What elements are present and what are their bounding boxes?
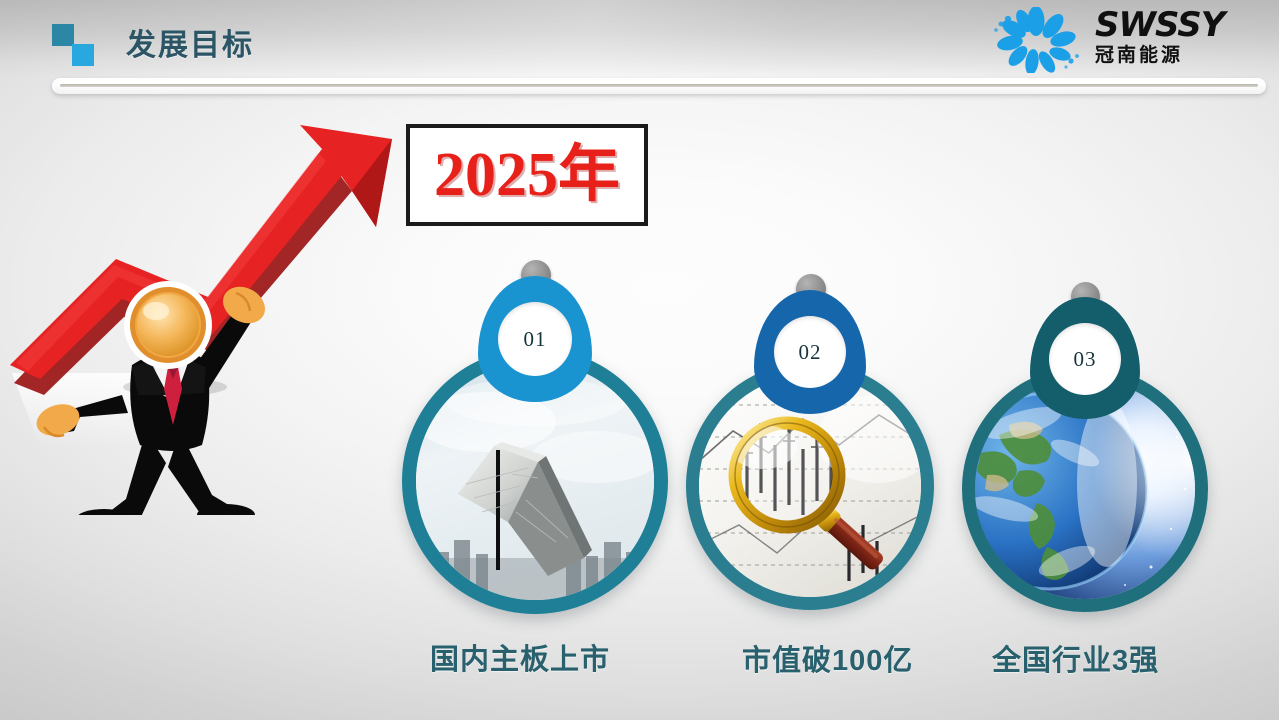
- goal-number-1: 01: [524, 327, 547, 352]
- goal-bubble-3[interactable]: 03: [962, 366, 1208, 612]
- goal-caption-2: 市值破100亿: [742, 637, 913, 679]
- year-text: 2025年: [434, 144, 620, 206]
- square-icon-dark: [52, 24, 74, 46]
- businessman-on-rising-arrow-icon: [0, 95, 420, 515]
- goal-badge-3[interactable]: 03: [1024, 282, 1146, 428]
- company-logo-icon: [983, 7, 1089, 73]
- brand-wordmark: SWSSY 冠南能源: [1095, 7, 1263, 68]
- goal-badge-1[interactable]: 01: [472, 260, 598, 410]
- goal-number-3: 03: [1074, 347, 1097, 372]
- page-title: 发展目标: [126, 20, 254, 64]
- title-decoration-squares: [52, 24, 108, 68]
- badge-inner-circle-2: 02: [774, 316, 846, 388]
- year-callout-box: 2025年: [406, 124, 648, 226]
- goal-badge-2[interactable]: 02: [748, 274, 872, 424]
- water-droplet-flower-icon: [983, 7, 1089, 73]
- goal-caption-3: 全国行业3强: [992, 637, 1159, 679]
- brand-logo: SWSSY 冠南能源: [983, 5, 1263, 75]
- businessman-arrow-illustration: [0, 95, 420, 515]
- goal-number-2: 02: [799, 340, 822, 365]
- goal-bubble-1[interactable]: 01: [402, 348, 668, 614]
- goal-caption-1: 国内主板上市: [430, 636, 610, 678]
- square-icon-light: [72, 44, 94, 66]
- slide-canvas: 发展目标: [0, 0, 1279, 720]
- badge-inner-circle-1: 01: [498, 302, 572, 376]
- brand-name: SWSSY: [1095, 7, 1263, 43]
- badge-inner-circle-3: 03: [1049, 323, 1121, 395]
- header-divider-bar: [52, 78, 1266, 94]
- divider-inner-line: [60, 84, 1258, 87]
- goal-bubble-2[interactable]: 02: [686, 362, 934, 610]
- brand-subtitle: 冠南能源: [1095, 44, 1263, 68]
